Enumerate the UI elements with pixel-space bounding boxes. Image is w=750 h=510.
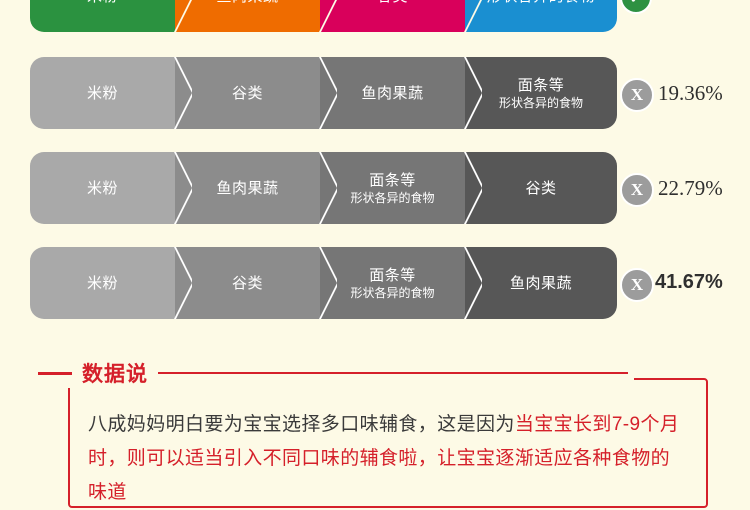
flow-segment[interactable]: 面条等 形状各异的食物	[320, 247, 465, 319]
x-badge: X	[620, 78, 654, 112]
flow-segment[interactable]: 米粉	[30, 0, 175, 32]
flow-segment[interactable]: 形状各异的食物	[465, 0, 617, 32]
flow-segment[interactable]: 米粉	[30, 57, 175, 129]
segment-label: 面条等	[369, 171, 416, 190]
data-note-header: 数据说	[32, 358, 634, 388]
flow-segment[interactable]: 谷类	[175, 57, 320, 129]
flow-bar: 米粉 谷类 鱼肉果蔬 面条等 形状各异的食物	[30, 57, 617, 129]
segment-label: 谷类	[377, 0, 408, 6]
flow-segment[interactable]: 谷类	[175, 247, 320, 319]
flow-row-2279: 米粉 鱼肉果蔬 面条等 形状各异的食物 谷类 X 22.79%	[30, 152, 617, 224]
flow-segment[interactable]: 面条等 形状各异的食物	[320, 152, 465, 224]
segment-label: 鱼肉果蔬	[216, 179, 278, 198]
segment-label: 面条等	[369, 266, 416, 285]
title-rule	[158, 372, 628, 374]
title-dash	[38, 372, 72, 375]
segment-label: 谷类	[232, 274, 263, 293]
x-icon: X	[631, 85, 643, 105]
x-icon: X	[631, 275, 643, 295]
x-icon: X	[631, 180, 643, 200]
flow-segment[interactable]: 米粉	[30, 247, 175, 319]
flow-segment[interactable]: 谷类	[465, 152, 617, 224]
flow-row-1936: 米粉 谷类 鱼肉果蔬 面条等 形状各异的食物 X 19.36%	[30, 57, 617, 129]
segment-label: 形状各异的食物	[487, 0, 596, 6]
flow-segment[interactable]: 面条等 形状各异的食物	[465, 57, 617, 129]
check-icon: ✔	[629, 0, 642, 8]
segment-label: 鱼肉果蔬	[216, 0, 278, 6]
segment-sublabel: 形状各异的食物	[350, 190, 434, 206]
segment-label: 鱼肉果蔬	[361, 84, 423, 103]
segment-label: 米粉	[87, 0, 118, 6]
x-badge: X	[620, 173, 654, 207]
segment-label: 米粉	[87, 179, 118, 198]
flow-segment[interactable]: 鱼肉果蔬	[465, 247, 617, 319]
flow-segment[interactable]: 鱼肉果蔬	[320, 57, 465, 129]
segment-label: 面条等	[518, 76, 565, 95]
flow-bar: 米粉 鱼肉果蔬 谷类 形状各异的食物	[30, 0, 617, 32]
segment-label: 谷类	[525, 179, 556, 198]
flow-bar: 米粉 鱼肉果蔬 面条等 形状各异的食物 谷类	[30, 152, 617, 224]
segment-sublabel: 形状各异的食物	[499, 95, 583, 111]
percent-value: 41.67%	[655, 271, 723, 294]
percent-value: 22.79%	[658, 176, 723, 201]
flow-segment[interactable]: 鱼肉果蔬	[175, 152, 320, 224]
segment-label: 米粉	[87, 84, 118, 103]
check-badge: ✔	[620, 0, 652, 14]
flow-row-4167: 米粉 谷类 面条等 形状各异的食物 鱼肉果蔬 X 41.67%	[30, 247, 617, 319]
flow-segment[interactable]: 谷类	[320, 0, 465, 32]
segment-label: 谷类	[232, 84, 263, 103]
flow-segment[interactable]: 鱼肉果蔬	[175, 0, 320, 32]
flow-row-color: 米粉 鱼肉果蔬 谷类 形状各异的食物 ✔	[30, 0, 617, 32]
flow-segment[interactable]: 米粉	[30, 152, 175, 224]
x-badge: X	[620, 268, 654, 302]
flow-bar: 米粉 谷类 面条等 形状各异的食物 鱼肉果蔬	[30, 247, 617, 319]
data-note-title: 数据说	[82, 358, 148, 388]
segment-label: 鱼肉果蔬	[510, 274, 572, 293]
infographic-canvas: 米粉 鱼肉果蔬 谷类 形状各异的食物 ✔ 米粉 谷类 鱼肉果蔬	[0, 0, 750, 500]
segment-sublabel: 形状各异的食物	[350, 285, 434, 301]
data-note-body: 八成妈妈明白要为宝宝选择多口味辅食，这是因为当宝宝长到7-9个月时，则可以适当引…	[88, 408, 688, 510]
segment-label: 米粉	[87, 274, 118, 293]
note-text-plain: 八成妈妈明白要为宝宝选择多口味辅食，这是因为	[88, 414, 515, 435]
percent-value: 19.36%	[658, 81, 723, 106]
